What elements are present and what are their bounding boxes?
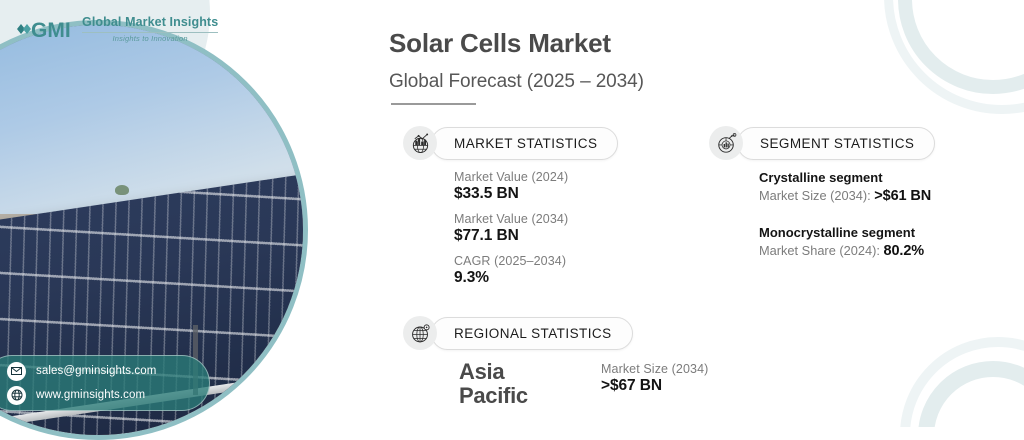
gmi-logo[interactable]: GMI Global Market Insights Insights to I… [14, 16, 218, 42]
region-statistic: Market Size (2034) >$67 BN [601, 362, 708, 404]
contact-email-row[interactable]: sales@gminsights.com [7, 362, 209, 381]
gmi-logo-name: Global Market Insights [82, 16, 218, 29]
photo-tree-right [115, 185, 129, 195]
region-name-line1: Asia [459, 360, 528, 384]
market-stat-value: 9.3% [454, 269, 568, 287]
market-statistics-label: MARKET STATISTICS [431, 127, 618, 160]
market-stat-label: CAGR (2025–2034) [454, 254, 568, 268]
market-stat-label: Market Value (2034) [454, 212, 568, 226]
market-stat-item: CAGR (2025–2034) 9.3% [454, 254, 568, 287]
gmi-logo-mark: GMI [14, 16, 74, 42]
contact-website-text: www.gminsights.com [36, 389, 145, 401]
region-metric-value: >$67 BN [601, 377, 708, 395]
envelope-icon [7, 362, 26, 381]
segment-metric-row: Market Size (2034): >$61 BN [759, 188, 931, 204]
contact-info-pill: sales@gminsights.com www.gminsights.com [0, 355, 210, 411]
main-content: Solar Cells Market Global Forecast (2025… [389, 0, 1024, 427]
market-statistics-badge[interactable]: MARKET STATISTICS [403, 126, 618, 160]
gmi-logo-tagline: Insights to Innovation [82, 35, 218, 43]
segment-statistics-list: Crystalline segment Market Size (2034): … [759, 170, 931, 280]
region-name-block: Asia Pacific [459, 360, 528, 408]
title-divider [391, 103, 476, 105]
segment-metric-value: 80.2% [883, 243, 924, 259]
segment-metric-label: Market Size (2034): [759, 188, 871, 203]
gmi-logo-divider [82, 32, 218, 33]
regional-statistics-label: REGIONAL STATISTICS [431, 317, 633, 350]
contact-website-row[interactable]: www.gminsights.com [7, 386, 209, 405]
segment-metric-row: Market Share (2024): 80.2% [759, 243, 931, 259]
segment-title: Monocrystalline segment [759, 225, 931, 240]
regional-statistics-badge[interactable]: REGIONAL STATISTICS [403, 316, 633, 350]
region-name-line2: Pacific [459, 384, 528, 408]
market-stat-item: Market Value (2034) $77.1 BN [454, 212, 568, 245]
contact-email-text: sales@gminsights.com [36, 365, 156, 377]
segment-metric-value: >$61 BN [874, 188, 931, 204]
region-metric-label: Market Size (2034) [601, 362, 708, 376]
pie-chart-arrow-icon [709, 126, 743, 160]
segment-title: Crystalline segment [759, 170, 931, 185]
segment-statistics-badge[interactable]: SEGMENT STATISTICS [709, 126, 935, 160]
page-title: Solar Cells Market [389, 28, 611, 59]
market-stat-value: $33.5 BN [454, 185, 568, 203]
segment-metric-label: Market Share (2024): [759, 243, 880, 258]
globe-icon [7, 386, 26, 405]
market-statistics-list: Market Value (2024) $33.5 BN Market Valu… [454, 170, 568, 296]
segment-item: Crystalline segment Market Size (2034): … [759, 170, 931, 204]
segment-item: Monocrystalline segment Market Share (20… [759, 225, 931, 259]
market-stat-label: Market Value (2024) [454, 170, 568, 184]
globe-chart-icon [403, 126, 437, 160]
gmi-logo-wordmark: Global Market Insights Insights to Innov… [82, 16, 218, 42]
market-stat-item: Market Value (2024) $33.5 BN [454, 170, 568, 203]
globe-pin-icon [403, 316, 437, 350]
segment-statistics-label: SEGMENT STATISTICS [737, 127, 935, 160]
page-subtitle: Global Forecast (2025 – 2034) [389, 71, 644, 93]
svg-text:GMI: GMI [31, 19, 71, 42]
market-stat-value: $77.1 BN [454, 227, 568, 245]
